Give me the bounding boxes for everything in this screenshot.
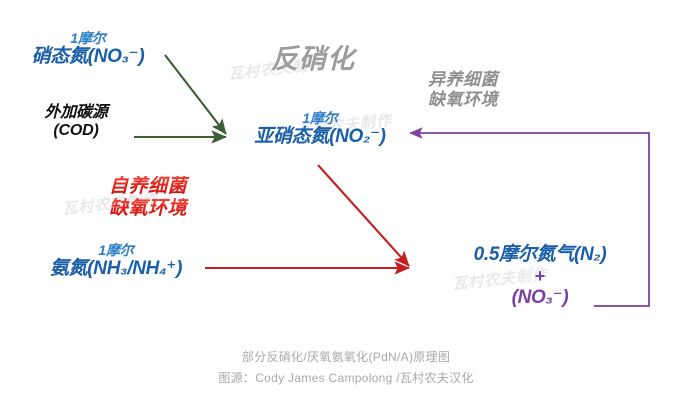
node-nitrate: 1摩尔 硝态氮(NO₃⁻) bbox=[8, 30, 168, 68]
label-heterotrophic-bacteria: 异养细菌 缺氧环境 bbox=[408, 70, 518, 109]
node-product-plus: + bbox=[440, 266, 640, 287]
node-product: 0.5摩尔氮气(N₂) + (NO₃⁻) bbox=[440, 244, 640, 308]
node-carbon-source-line1: 外加碳源 bbox=[16, 104, 136, 122]
node-ammonia-species: 氨氮(NH₃/NH₄⁺) bbox=[26, 258, 206, 280]
node-ammonia: 1摩尔 氨氮(NH₃/NH₄⁺) bbox=[26, 242, 206, 280]
node-autotroph-line2: 缺氧环境 bbox=[88, 198, 208, 220]
label-denitrification: 反硝化 bbox=[248, 44, 378, 75]
node-carbon-source: 外加碳源 (COD) bbox=[16, 104, 136, 141]
arrow-nitrite-to-product bbox=[318, 165, 409, 266]
node-nitrite: 1摩尔 亚硝态氮(NO₂⁻) bbox=[230, 110, 410, 148]
node-autotrophic-bacteria: 自养细菌 缺氧环境 bbox=[88, 176, 208, 220]
diagram-canvas: 瓦村农夫制作 瓦村农夫制作 瓦村农夫制作 瓦村农夫制作 1摩尔 硝态氮(NO₃⁻… bbox=[0, 0, 692, 405]
label-denitrification-text: 反硝化 bbox=[248, 44, 378, 75]
node-product-line2: (NO₃⁻) bbox=[440, 287, 640, 309]
arrow-nitrate-to-nitrite bbox=[165, 55, 226, 134]
node-product-line1: 0.5摩尔氮气(N₂) bbox=[440, 244, 640, 266]
node-nitrate-amount: 1摩尔 bbox=[8, 30, 168, 46]
label-heterotroph-line1: 异养细菌 bbox=[408, 70, 518, 90]
caption-line1: 部分反硝化/厌氧氨氧化(PdN/A)原理图 bbox=[0, 348, 692, 365]
node-nitrite-species: 亚硝态氮(NO₂⁻) bbox=[230, 126, 410, 148]
node-nitrite-amount: 1摩尔 bbox=[230, 110, 410, 126]
node-ammonia-amount: 1摩尔 bbox=[26, 242, 206, 258]
node-carbon-source-line2: (COD) bbox=[16, 122, 136, 140]
caption: 部分反硝化/厌氧氨氧化(PdN/A)原理图 图源：Cody James Camp… bbox=[0, 348, 692, 386]
node-nitrate-species: 硝态氮(NO₃⁻) bbox=[8, 46, 168, 68]
label-heterotroph-line2: 缺氧环境 bbox=[408, 90, 518, 110]
node-autotroph-line1: 自养细菌 bbox=[88, 176, 208, 198]
caption-line2: 图源：Cody James Campolong /瓦村农夫汉化 bbox=[0, 369, 692, 386]
